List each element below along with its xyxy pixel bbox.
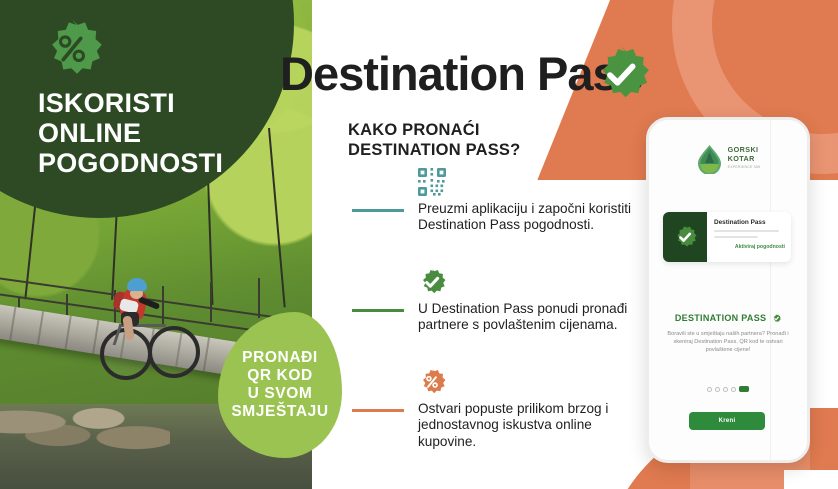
step-text: Ostvari popuste prilikom brzog i jednost…	[418, 401, 642, 450]
left-headline: ISKORISTI ONLINE POGODNOSTI	[38, 88, 223, 178]
app-logo: GORSKI KOTAR EXPERIENCE 365	[649, 144, 807, 174]
subheading-line-1: KAKO PRONAĆI	[348, 120, 520, 140]
step-dash	[352, 209, 404, 212]
cyclist	[100, 268, 196, 388]
card-title: Destination Pass	[714, 219, 785, 226]
card-activate-link[interactable]: Aktiviraj pogodnosti	[714, 244, 785, 250]
railing-post	[258, 278, 260, 318]
blob-line-4: SMJEŠTAJU	[231, 403, 328, 421]
phone-screen: GORSKI KOTAR EXPERIENCE 365 Destination …	[649, 120, 807, 460]
card-placeholder-line	[714, 236, 758, 238]
verified-check-seal-icon	[418, 268, 446, 296]
carousel-dot[interactable]	[731, 387, 736, 392]
step-dash	[352, 409, 404, 412]
card-placeholder-line	[714, 230, 779, 232]
step-text: Preuzmi aplikaciju i započni koristiti D…	[418, 201, 642, 234]
destination-pass-card[interactable]: Destination Pass Aktiviraj pogodnosti	[663, 212, 791, 262]
left-headline-line-1: ISKORISTI	[38, 88, 223, 118]
white-corner-notch	[784, 470, 838, 489]
logo-name-2: KOTAR	[728, 155, 761, 163]
riverbank-rocks	[0, 398, 170, 458]
blob-line-3: U SVOM	[248, 385, 313, 403]
step-text: U Destination Pass ponudi pronađi partne…	[418, 301, 642, 334]
start-button[interactable]: Kreni	[689, 412, 765, 430]
left-headline-line-3: POGODNOSTI	[38, 148, 223, 178]
railing-post	[210, 282, 212, 322]
app-logo-text: GORSKI KOTAR EXPERIENCE 365	[728, 146, 761, 171]
verified-check-seal-icon	[772, 314, 781, 325]
carousel-dots[interactable]	[649, 386, 807, 392]
card-thumbnail	[663, 212, 707, 262]
bicycle-frame	[113, 324, 167, 345]
pass-heading-text: DESTINATION PASS	[675, 313, 766, 323]
step-item: Ostvari popuste prilikom brzog i jednost…	[352, 368, 642, 452]
steps-list: Preuzmi aplikaciju i započni koristiti D…	[352, 168, 642, 468]
step-item: U Destination Pass ponudi pronađi partne…	[352, 268, 642, 352]
page-title: Destination Pass	[280, 46, 643, 101]
pass-heading: DESTINATION PASS	[649, 313, 807, 325]
percent-seal-icon	[41, 18, 103, 80]
subheading-line-2: DESTINATION PASS?	[348, 140, 520, 160]
poster-canvas: ISKORISTI ONLINE POGODNOSTI PRONAĐI QR K…	[0, 0, 838, 489]
left-headline-line-2: ONLINE	[38, 118, 223, 148]
logo-subtitle: EXPERIENCE 365	[728, 163, 761, 171]
blob-line-2: QR KOD	[247, 367, 313, 385]
carousel-dot[interactable]	[715, 387, 720, 392]
card-meta: Destination Pass Aktiviraj pogodnosti	[707, 212, 791, 262]
phone-mockup: GORSKI KOTAR EXPERIENCE 365 Destination …	[646, 117, 810, 463]
rider-helmet	[127, 278, 147, 291]
subheading: KAKO PRONAĆI DESTINATION PASS?	[348, 120, 520, 160]
carousel-dot[interactable]	[707, 387, 712, 392]
verified-check-seal-icon	[592, 45, 650, 103]
pass-description: Boravili ste u smještaju naših partnera?…	[661, 330, 795, 354]
step-dash	[352, 309, 404, 312]
carousel-dot[interactable]	[723, 387, 728, 392]
percent-seal-icon	[418, 368, 446, 396]
carousel-dot-active[interactable]	[739, 386, 749, 392]
verified-check-seal-icon	[673, 225, 697, 249]
qr-code-icon	[418, 168, 446, 196]
step-item: Preuzmi aplikaciju i započni koristiti D…	[352, 168, 642, 252]
blob-line-1: PRONAĐI	[242, 349, 318, 367]
gorski-kotar-droplet-icon	[696, 144, 723, 174]
